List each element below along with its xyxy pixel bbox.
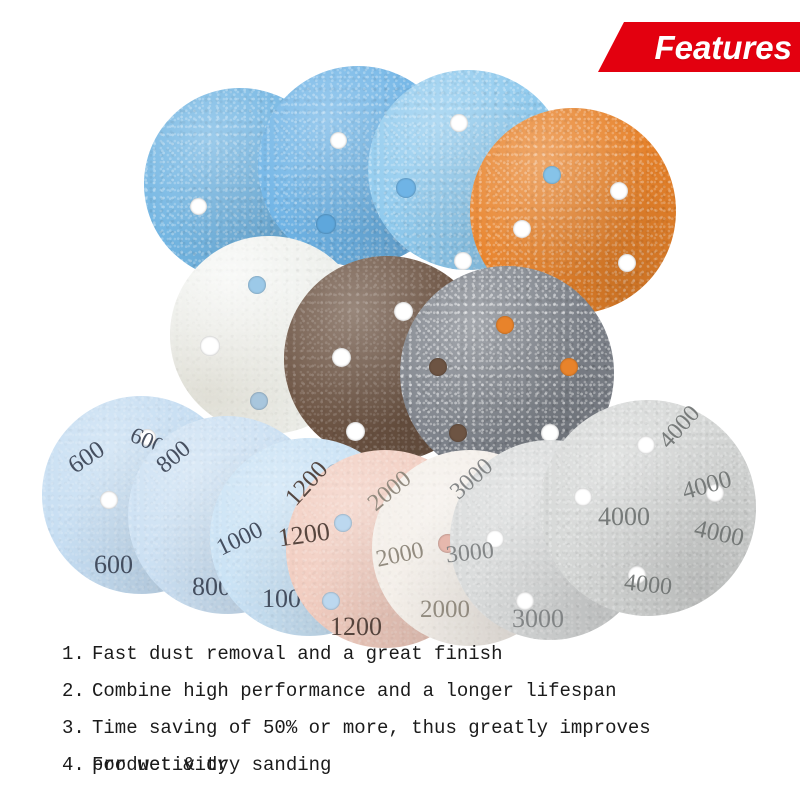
disc-hole	[200, 336, 220, 356]
grit-label-800: 800	[152, 436, 197, 480]
feature-number: 3.	[62, 710, 92, 747]
disc-hole	[322, 592, 340, 610]
sanding-disc-4000: 4000 4000 4000 4000 4000	[540, 400, 756, 616]
grit-label-4000: 4000	[679, 466, 735, 507]
disc-hole	[628, 566, 646, 584]
feature-item-2: 2. Combine high performance and a longer…	[62, 673, 782, 710]
disc-hole	[610, 182, 628, 200]
disc-hole	[394, 302, 413, 321]
feature-number: 1.	[62, 636, 92, 673]
feature-text: Combine high performance and a longer li…	[92, 673, 782, 710]
disc-hole	[560, 358, 578, 376]
grit-label-2000: 2000	[374, 537, 427, 573]
disc-hole	[618, 254, 636, 272]
feature-number: 2.	[62, 673, 92, 710]
product-photo-collage: 600 600 600 600 800 800 800 1000 1000 12…	[0, 60, 800, 630]
grit-label-4000: 4000	[692, 515, 747, 553]
disc-hole	[396, 178, 416, 198]
disc-shading	[540, 400, 756, 616]
feature-text: For wet & dry sanding	[92, 747, 782, 784]
grit-label-4000: 4000	[598, 502, 650, 532]
grit-label-4000: 4000	[654, 401, 706, 455]
disc-hole	[429, 358, 447, 376]
grit-label-600: 600	[63, 436, 110, 480]
disc-hole	[190, 198, 207, 215]
disc-hole	[637, 436, 655, 454]
feature-item-1: 1. Fast dust removal and a great finish	[62, 636, 782, 673]
disc-grain-texture	[540, 400, 756, 616]
disc-hole	[513, 220, 531, 238]
grit-label-1000: 1000	[213, 517, 268, 562]
grit-label-600: 600	[94, 550, 133, 580]
grit-label-2000: 2000	[420, 596, 470, 624]
features-banner: Features	[598, 22, 800, 72]
disc-hole	[496, 316, 514, 334]
disc-hole	[346, 422, 365, 441]
disc-hole	[516, 592, 534, 610]
feature-item-4: 4. For wet & dry sanding	[62, 747, 782, 784]
disc-hole	[330, 132, 347, 149]
disc-hole	[706, 484, 724, 502]
disc-hole	[334, 514, 352, 532]
disc-hole	[486, 530, 504, 548]
disc-hole	[139, 429, 156, 446]
disc-hole	[543, 166, 561, 184]
disc-hole	[332, 348, 351, 367]
disc-hole	[454, 252, 472, 270]
feature-text: Fast dust removal and a great finish	[92, 636, 782, 673]
feature-item-3: 3. Time saving of 50% or more, thus grea…	[62, 710, 782, 747]
feature-list: 1. Fast dust removal and a great finish …	[62, 636, 782, 784]
disc-hole	[100, 491, 118, 509]
disc-hole	[450, 114, 468, 132]
disc-hole	[248, 276, 266, 294]
disc-hole	[574, 488, 592, 506]
feature-number: 4.	[62, 747, 92, 784]
disc-hole	[449, 424, 467, 442]
features-banner-label: Features	[654, 31, 792, 64]
disc-hole	[316, 214, 336, 234]
disc-hole	[250, 392, 268, 410]
